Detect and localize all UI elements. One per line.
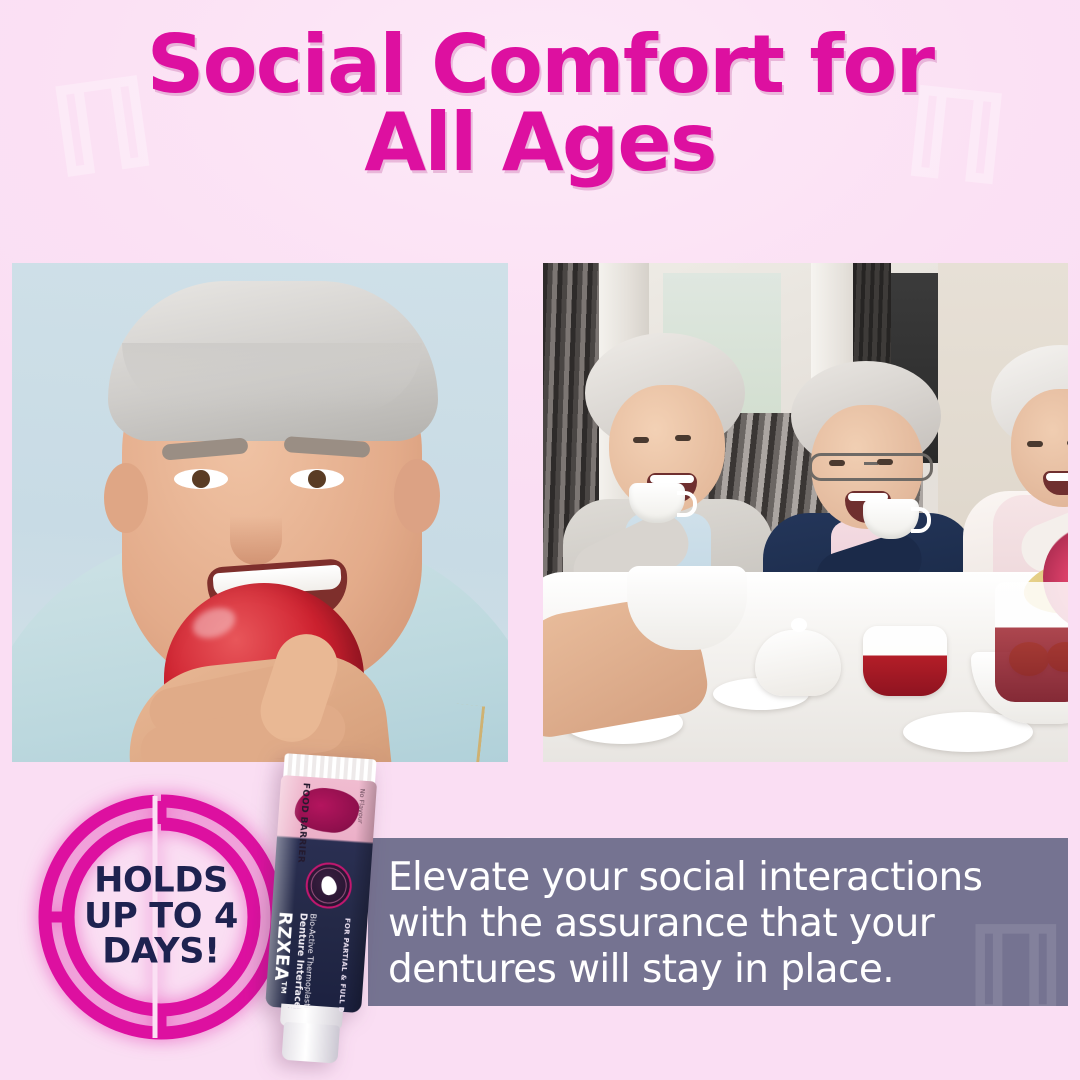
headline-line-2: All Ages: [0, 104, 1080, 182]
headline-line-1: Social Comfort for: [0, 26, 1080, 104]
holds-up-to-4-days-badge: HOLDS UP TO 4 DAYS!: [36, 792, 286, 1042]
photo-man-ear-right: [394, 459, 440, 533]
photo-eye: [829, 460, 845, 466]
photo-man-eye-left: [174, 469, 228, 489]
tube-cap: [281, 1022, 340, 1064]
tube-body: FOOD BARRIER No Flavour RZXEATM Bio-Acti…: [265, 775, 377, 1013]
poster-canvas: ℿ ℿ ℿ ℿ ℿ Social Comfort for All Ages: [0, 0, 1080, 1080]
photo-eye: [675, 435, 691, 441]
photo-jam-jar: [863, 626, 947, 696]
trademark-symbol: TM: [279, 981, 288, 994]
photo-man-necklace: [374, 696, 485, 762]
photo-man-eye-right: [290, 469, 344, 489]
photo-eye: [877, 459, 893, 465]
tube-flavour-label: No Flavour: [356, 788, 366, 824]
photo-eyeglasses: [809, 453, 933, 481]
badge-line-2: UP TO 4: [46, 899, 276, 935]
headline: Social Comfort for All Ages: [0, 26, 1080, 183]
tube-usage-label: FOR PARTIAL & FULL DENTURES: [334, 918, 351, 1013]
photo-teapot: [755, 630, 841, 696]
photo-eye: [633, 437, 649, 443]
photo-glass-teapot: [995, 582, 1068, 702]
photo-tea-table: [543, 572, 1068, 762]
caption-box: ℿ Elevate your social interactions with …: [368, 838, 1068, 1006]
photo-eye: [1067, 440, 1068, 446]
photo-tea-party: [543, 263, 1068, 762]
product-tube: FOOD BARRIER No Flavour RZXEATM Bio-Acti…: [247, 752, 392, 1068]
badge-text: HOLDS UP TO 4 DAYS!: [36, 863, 286, 970]
caption-text: Elevate your social interactions with th…: [368, 838, 1068, 993]
badge-line-3: DAYS!: [46, 935, 276, 971]
brand-text: RZXEA: [270, 911, 296, 982]
photo-man-hair: [108, 281, 438, 441]
photo-man-ear-left: [104, 463, 148, 533]
photo-eye: [1027, 441, 1043, 447]
photo-man-apple: [12, 263, 508, 762]
photo-man-nose: [230, 495, 282, 565]
badge-line-1: HOLDS: [46, 863, 276, 899]
tube-seal-emblem: [304, 861, 353, 910]
